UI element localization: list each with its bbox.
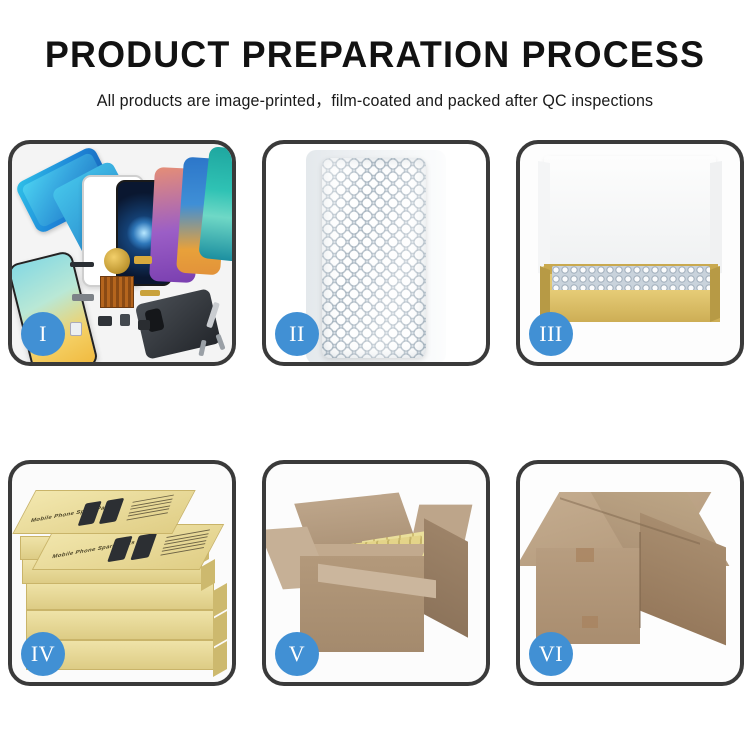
tool-screwdriver xyxy=(215,334,225,351)
mailer-box-front-wall xyxy=(542,290,720,322)
step-badge-1: I xyxy=(21,312,65,356)
process-step-panel-3: III xyxy=(516,140,744,366)
process-step-panel-6: VI xyxy=(516,460,744,686)
process-step-grid: I II III xyxy=(8,140,742,686)
mailer-box-lid xyxy=(544,156,716,280)
process-step-panel-5: V xyxy=(262,460,490,686)
step-badge-4: IV xyxy=(21,632,65,676)
carton-side-face xyxy=(640,513,726,646)
spare-part-flex-cable xyxy=(134,256,152,264)
copper-coil xyxy=(104,248,130,274)
carton-front-face xyxy=(536,548,640,644)
spare-part-bracket xyxy=(72,294,94,301)
spare-part-sim-tray xyxy=(70,322,82,336)
product-photo-on-box xyxy=(130,533,157,561)
step-badge-2: II xyxy=(275,312,319,356)
spare-part-button xyxy=(138,320,150,330)
retail-box-printed-lid: Mobile Phone Spare Parts xyxy=(12,490,195,534)
carton-tape-patch xyxy=(576,548,594,562)
bubble-wrap-inside-box xyxy=(552,266,710,292)
product-photo-on-box xyxy=(107,536,133,562)
mailer-box-right-edge xyxy=(710,266,720,322)
step-badge-3: III xyxy=(529,312,573,356)
process-step-panel-1: I xyxy=(8,140,236,366)
product-photo-on-box xyxy=(99,498,125,524)
step-badge-6: VI xyxy=(529,632,573,676)
bubble-wrap-sleeve xyxy=(322,158,426,358)
page-subtitle: All products are image-printed，film-coat… xyxy=(6,87,745,111)
product-preparation-infographic: PRODUCT PREPARATION PROCESS All products… xyxy=(0,0,750,750)
header: PRODUCT PREPARATION PROCESS All products… xyxy=(0,0,750,111)
carton-tape-patch xyxy=(582,616,598,628)
carton-vertical-seam xyxy=(639,532,641,628)
spare-part-camera-module xyxy=(98,316,112,326)
process-step-panel-2: II xyxy=(262,140,490,366)
spare-part-gold-contact xyxy=(140,290,160,296)
process-step-panel-4: Mobile Phone Spare Parts Mobile Phone Sp… xyxy=(8,460,236,686)
circuit-chip xyxy=(100,276,134,308)
retail-box-slab xyxy=(26,582,214,610)
page-title: PRODUCT PREPARATION PROCESS xyxy=(11,34,739,76)
box-spec-lines xyxy=(126,495,174,523)
spare-part-connector xyxy=(70,262,94,267)
step-badge-5: V xyxy=(275,632,319,676)
spare-part-speaker xyxy=(120,314,130,326)
